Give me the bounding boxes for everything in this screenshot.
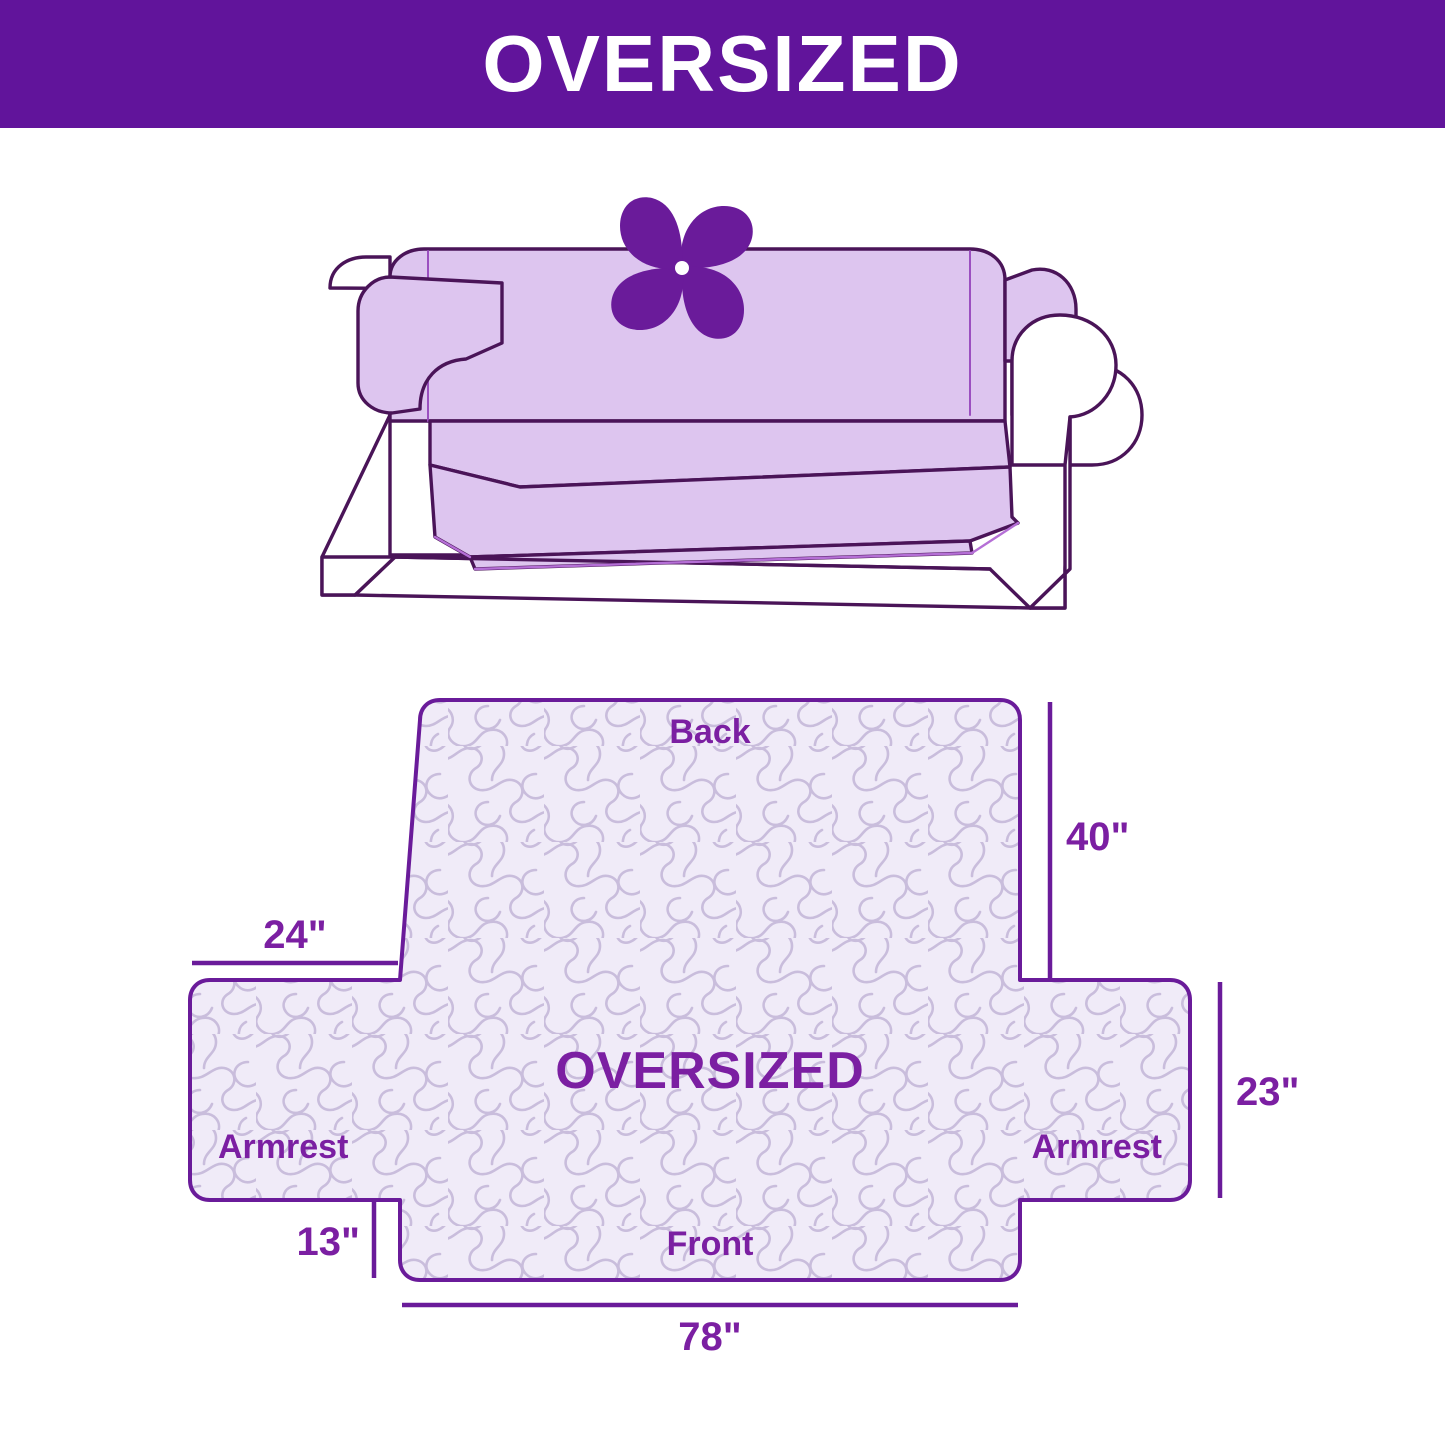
label-center-oversized: OVERSIZED (555, 1042, 865, 1100)
header-banner: OVERSIZED (0, 0, 1445, 128)
label-front: Front (667, 1225, 754, 1263)
dimension-front-drop: 13" (297, 1220, 360, 1264)
pinwheel-hub (675, 261, 689, 275)
sofa-drawing (270, 165, 1200, 635)
sofa-illustration (270, 165, 1200, 635)
dimension-back-height: 40" (1066, 815, 1129, 859)
dimension-armrest-width: 24" (263, 913, 326, 957)
product-size-chart: OVERSIZED (0, 0, 1445, 1445)
left-arm-skirt (322, 557, 395, 595)
front-bottom-line (355, 595, 1030, 608)
dimension-total-width: 78" (678, 1315, 741, 1359)
label-armrest-right: Armrest (1032, 1128, 1162, 1166)
banner-title: OVERSIZED (482, 24, 962, 104)
dimension-armrest-height: 23" (1236, 1070, 1299, 1114)
layout-drawing: Back OVERSIZED Armrest Armrest Front 40" (160, 650, 1380, 1390)
slipcover-cross-shape (190, 700, 1190, 1280)
flat-layout-diagram: Back OVERSIZED Armrest Armrest Front 40" (160, 650, 1380, 1390)
label-back: Back (669, 713, 750, 751)
label-armrest-left: Armrest (218, 1128, 348, 1166)
